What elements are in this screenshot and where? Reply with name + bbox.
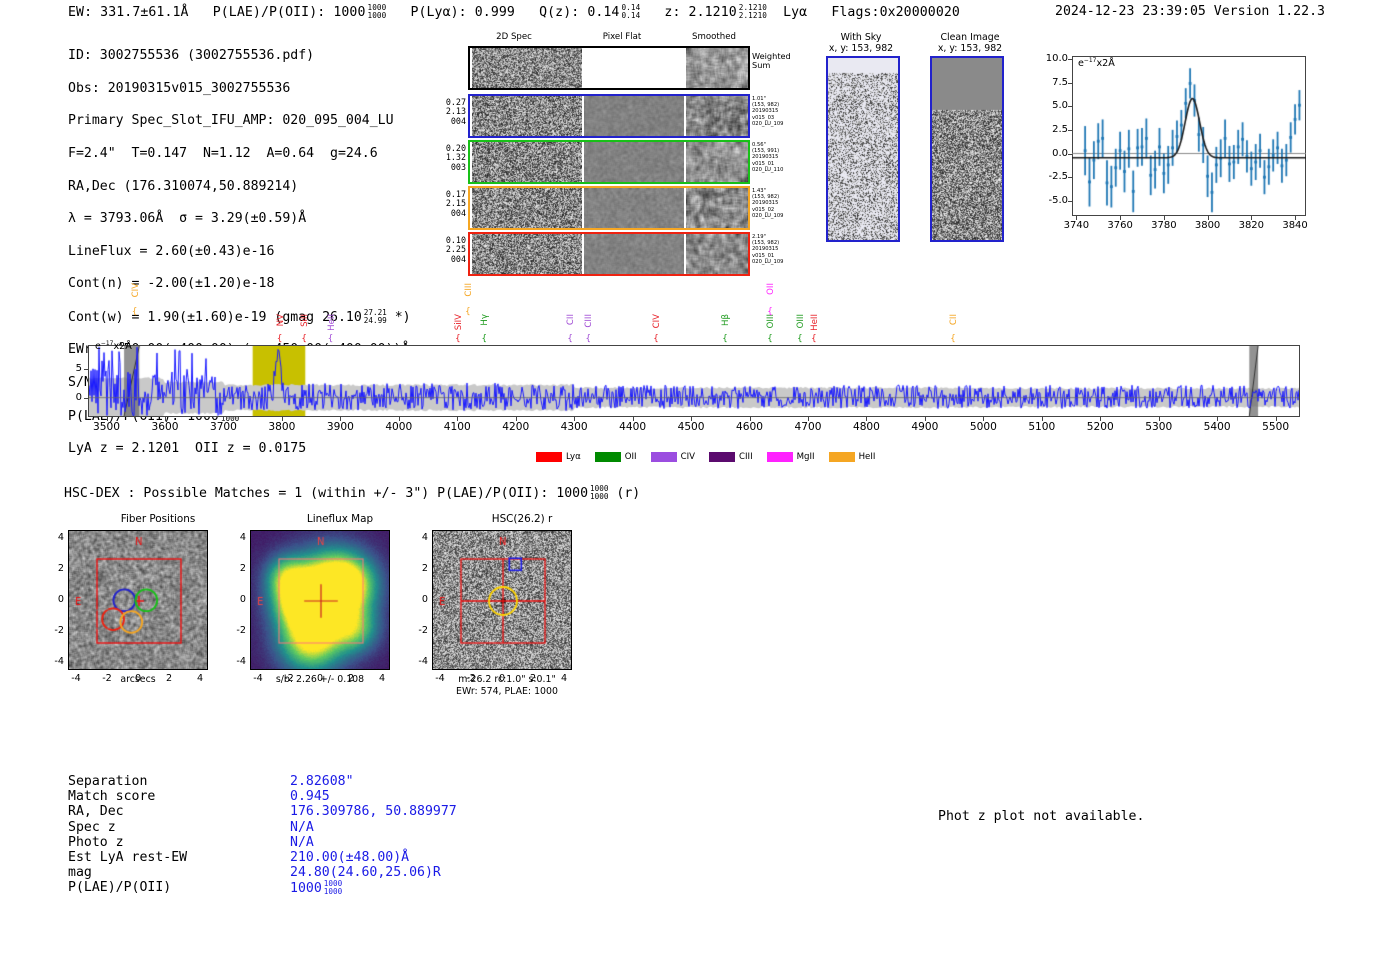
fiber-strip-smoothed	[686, 96, 748, 136]
zoom-y-tick: 0.0	[1024, 148, 1068, 159]
spectrum-x-tick: 4700	[784, 421, 832, 433]
header-z: z: 2.1210	[664, 5, 736, 20]
spectrum-x-tickmark	[1100, 417, 1101, 421]
cont-w-suffix: *)	[395, 310, 411, 325]
match-table-key: Est LyA rest-EW	[68, 850, 187, 865]
emission-line-bracket: {	[328, 334, 334, 344]
fiber-strip-pixel-flat	[584, 234, 684, 274]
fiber-metric-2: 003	[432, 163, 466, 172]
legend-label: HeII	[859, 452, 876, 462]
info-line-id: ID: 3002755536 (3002755536.pdf)	[68, 48, 411, 64]
zoom-y-tickmark	[1068, 59, 1072, 60]
clean-image-coords: x, y: 153, 982	[912, 43, 1028, 54]
fiber-strip-pixel-flat	[584, 142, 684, 182]
fiber-y-tick: -4	[46, 656, 64, 667]
spectrum-x-tick: 3800	[258, 421, 306, 433]
spectrum-x-tick: 4200	[492, 421, 540, 433]
emission-line-bracket: {	[585, 334, 591, 344]
emission-line-label: SiIV	[454, 314, 464, 330]
spectrum-x-tickmark	[1159, 417, 1160, 421]
header-plae-lo: 1000	[368, 12, 387, 20]
emission-line-label: NV	[276, 314, 286, 326]
fiber-strip-2d-spec	[472, 142, 582, 182]
legend-swatch	[651, 452, 677, 462]
zoom-y-tick: 10.0	[1024, 53, 1068, 64]
match-table-key: mag	[68, 865, 92, 880]
hscdex-title-suffix: (r)	[616, 486, 640, 501]
spectrum-x-tick: 5100	[1018, 421, 1066, 433]
emission-line-label: CII	[566, 314, 576, 325]
spectrum-x-tickmark	[107, 417, 108, 421]
hsc-y-tick: 4	[410, 532, 428, 543]
cont-w-lo: 24.99	[364, 317, 387, 325]
spectrum-x-tick: 4100	[433, 421, 481, 433]
spectrum-y-tickmark	[84, 369, 88, 370]
legend-swatch	[709, 452, 735, 462]
emission-line-label: CIII	[584, 314, 594, 328]
spectrum-x-tick: 5200	[1076, 421, 1124, 433]
info-line-cont-w: Cont(w) = 1.90(±1.60)e-19 (gmag 26.1027.…	[68, 309, 411, 326]
spectrum-x-tickmark	[165, 417, 166, 421]
emission-line-bracket: {	[797, 334, 803, 344]
fiber-meta-4: 020_LU_109	[752, 213, 822, 219]
info-line-lambda: λ = 3793.06Å σ = 3.29(±0.59)Å	[68, 211, 411, 227]
spectrum-x-tick: 4900	[901, 421, 949, 433]
fiber-strip-2d-spec	[472, 96, 582, 136]
info-line-params: F=2.4" T=0.147 N=1.12 A=0.64 g=24.6	[68, 146, 411, 162]
match-table-value: 100010001000	[290, 880, 342, 896]
fiber-strip-meta: 1.01"(153, 982)20190315v015_03020_LU_109	[752, 96, 822, 127]
emission-line-bracket: {	[455, 334, 461, 344]
emission-line-bracket: {	[567, 334, 573, 344]
clean-image-image	[930, 56, 1004, 242]
spectrum-x-tickmark	[1042, 417, 1043, 421]
spectrum-x-tick: 4800	[842, 421, 890, 433]
spectrum-x-tickmark	[340, 417, 341, 421]
match-table-value: N/A	[290, 820, 314, 835]
fiber-meta-4: 020_LU_109	[752, 121, 822, 127]
weighted-sum-strip	[468, 46, 750, 90]
lineflux-y-tick: 2	[228, 563, 246, 574]
fiber-strip-metrics: 0.272.13004	[432, 98, 466, 126]
emission-line-bracket: {	[811, 334, 817, 344]
emission-line-bracket: {	[767, 334, 773, 344]
spectrum-x-tickmark	[457, 417, 458, 421]
match-table-value: 176.309786, 50.889977	[290, 804, 457, 819]
fiber-strip-smoothed	[686, 234, 748, 274]
match-table-value: 24.80(24.60,25.06)R	[290, 865, 441, 880]
fiber-metric-2: 004	[432, 209, 466, 218]
spectrum-x-tick: 4600	[726, 421, 774, 433]
match-table-value: 2.82608"	[290, 774, 354, 789]
fiber-strip-smoothed	[686, 142, 748, 182]
with-sky-title: With Sky x, y: 153, 982	[806, 32, 916, 54]
emission-line-bracket: {	[132, 307, 138, 317]
spectrum-y-tickmark	[84, 398, 88, 399]
zoom-plot-flux-unit: e−17x2Å	[1078, 58, 1115, 69]
panel-title-lineflux-map: Lineflux Map	[240, 513, 440, 525]
match-table-value: N/A	[290, 835, 314, 850]
spectrum-x-tick: 4000	[375, 421, 423, 433]
weighted-sum-label-2: Sum	[752, 61, 791, 70]
lineflux-map-cutout	[250, 530, 390, 670]
match-table-key: P(LAE)/P(OII)	[68, 880, 171, 895]
spectrum-y-tick: 5	[56, 363, 82, 374]
emission-line-bracket: {	[481, 334, 487, 344]
match-table-key: Match score	[68, 789, 155, 804]
fiber-strip-metrics: 0.102.25004	[432, 236, 466, 264]
fiber-strip	[468, 232, 750, 276]
fiber-strip	[468, 186, 750, 230]
fiber-strip-2d-spec	[472, 234, 582, 274]
zoom-y-tick: 2.5	[1024, 124, 1068, 135]
fiber-y-tick: 2	[46, 563, 64, 574]
emission-line-label: SiII	[300, 314, 310, 327]
zoom-y-tickmark	[1068, 130, 1072, 131]
match-table-key: Photo z	[68, 835, 124, 850]
clean-image-title: Clean Image x, y: 153, 982	[912, 32, 1028, 54]
spectrum-x-tick: 5500	[1252, 421, 1300, 433]
zoom-y-tickmark	[1068, 106, 1072, 107]
fiber-y-tick: 0	[46, 594, 64, 605]
spectrum-x-tickmark	[1217, 417, 1218, 421]
emission-line-bracket: {	[767, 307, 773, 317]
emission-line-bracket: {	[722, 334, 728, 344]
with-sky-image	[826, 56, 900, 242]
zoom-y-tickmark	[1068, 83, 1072, 84]
header-summary-line: EW: 331.7±61.1Å P(LAE)/P(OII): 100010001…	[68, 4, 960, 20]
emission-line-label: CIII	[464, 283, 474, 297]
zoom-x-tick: 3840	[1273, 220, 1317, 231]
fiber-strip	[468, 94, 750, 138]
fiber-strip-smoothed	[686, 188, 748, 228]
fiber-x-tick: -4	[62, 673, 90, 684]
zoom-y-tick: 7.5	[1024, 77, 1068, 88]
info-line-lineflux: LineFlux = 2.60(±0.43)e-16	[68, 244, 411, 260]
with-sky-coords: x, y: 153, 982	[806, 43, 916, 54]
line-zoom-plot: e−17x2Å -5.0-2.50.02.55.07.510.0 3740376…	[1024, 40, 1314, 255]
spectrum-x-tickmark	[925, 417, 926, 421]
zoom-x-tick: 3740	[1054, 220, 1098, 231]
header-plya: P(Lyα): 0.999	[410, 5, 515, 20]
spectrum-x-tickmark	[223, 417, 224, 421]
emission-line-bracket: {	[277, 334, 283, 344]
spectrum-x-tick: 5300	[1135, 421, 1183, 433]
fiber-meta-4: 020_LU_110	[752, 167, 822, 173]
fiber-x-tick: 4	[186, 673, 214, 684]
emission-line-label: CIV	[131, 283, 141, 297]
zoom-y-tickmark	[1068, 201, 1072, 202]
emission-line-bracket: {	[301, 334, 307, 344]
zoom-x-tickmark	[1076, 216, 1077, 220]
spectrum-x-tick: 3600	[141, 421, 189, 433]
match-table-value: 210.00(±48.00)Å	[290, 850, 409, 865]
fiber-positions-cutout	[68, 530, 208, 670]
hsc-y-tick: -4	[410, 656, 428, 667]
header-line-id: Lyα	[783, 5, 807, 20]
zoom-y-tick: 5.0	[1024, 100, 1068, 111]
spectrum-y-tick: 0	[56, 392, 82, 403]
emission-line-bracket: {	[465, 307, 471, 317]
fiber-strip	[468, 140, 750, 184]
emission-line-label: Hγ	[480, 314, 490, 326]
with-sky-title-text: With Sky	[806, 32, 916, 43]
emission-line-label: OIII	[796, 314, 806, 328]
spectrum-x-tickmark	[691, 417, 692, 421]
info-line-cont-n: Cont(n) = -2.00(±1.20)e-18	[68, 276, 411, 292]
panel-title-hsc-r: HSC(26.2) r	[422, 513, 622, 525]
match-plae-lo: 1000	[324, 888, 342, 896]
header-flags: Flags:0x20000020	[831, 5, 960, 20]
header-z-lo: 2.1210	[739, 12, 767, 20]
fiber-y-tick: 4	[46, 532, 64, 543]
fiber-strip-2d-spec	[472, 188, 582, 228]
zoom-y-tickmark	[1068, 154, 1072, 155]
panel-title-fiber-positions: Fiber Positions	[58, 513, 258, 525]
header-timestamp: 2024-12-23 23:39:05 Version 1.22.3	[1055, 4, 1325, 19]
zoom-x-tickmark	[1120, 216, 1121, 220]
fiber-meta-4: 020_LU_109	[752, 259, 822, 265]
spectrum-x-tick: 4300	[550, 421, 598, 433]
cont-w-prefix: Cont(w) = 1.90(±1.60)e-19 (gmag 26.10	[68, 310, 362, 325]
fiber-strip-metrics: 0.172.15004	[432, 190, 466, 218]
spectrum-x-tickmark	[1276, 417, 1277, 421]
spectrum-x-tick: 5400	[1193, 421, 1241, 433]
zoom-x-tick: 3780	[1142, 220, 1186, 231]
info-line-obs: Obs: 20190315v015_3002755536	[68, 81, 411, 97]
emission-line-bracket: {	[653, 334, 659, 344]
match-plae-value: 1000	[290, 881, 322, 896]
emission-line-label: HeII	[810, 314, 820, 331]
spectrum-x-tickmark	[399, 417, 400, 421]
zoom-x-tickmark	[1295, 216, 1296, 220]
spectrum-x-tickmark	[808, 417, 809, 421]
legend-label: CIII	[739, 452, 753, 462]
hsc-y-tick: 2	[410, 563, 428, 574]
zoom-y-tick: -2.5	[1024, 171, 1068, 182]
col-title-2d-spec: 2D Spec	[454, 32, 574, 42]
fiber-strip-pixel-flat	[584, 188, 684, 228]
emission-line-bracket: {	[950, 334, 956, 344]
spectrum-x-tickmark	[983, 417, 984, 421]
legend-label: CIV	[681, 452, 695, 462]
emission-line-label: CIV	[652, 314, 662, 328]
hsc-r-caption: m:26.2 rc:1.0" s:0.1" EWr: 574, PLAE: 10…	[432, 674, 582, 697]
emission-line-label: HeII	[327, 314, 337, 331]
match-table-key: RA, Dec	[68, 804, 124, 819]
legend-swatch	[767, 452, 793, 462]
spectrum-x-tick: 3500	[83, 421, 131, 433]
match-table-key: Separation	[68, 774, 147, 789]
zoom-x-tick: 3820	[1229, 220, 1273, 231]
weighted-sum-label: Weighted Sum	[752, 52, 791, 71]
legend-swatch	[536, 452, 562, 462]
spectrum-x-tickmark	[574, 417, 575, 421]
info-line-redshifts: LyA z = 2.1201 OII z = 0.0175	[68, 441, 411, 457]
legend-swatch	[595, 452, 621, 462]
hscdex-title-prefix: HSC-DEX : Possible Matches = 1 (within +…	[64, 486, 548, 501]
spectrum-x-tickmark	[516, 417, 517, 421]
col-title-smoothed: Smoothed	[664, 32, 764, 42]
fiber-y-tick: -2	[46, 625, 64, 636]
header-plae-label: P(LAE)/P(OII):	[213, 5, 326, 20]
spectrum-x-tick: 4500	[667, 421, 715, 433]
zoom-y-tick: -5.0	[1024, 195, 1068, 206]
spectrum-x-tickmark	[866, 417, 867, 421]
fiber-strip-pixel-flat	[584, 96, 684, 136]
fiber-positions-caption: arcsecs	[88, 674, 188, 686]
zoom-x-tick: 3800	[1186, 220, 1230, 231]
legend-label: Lyα	[566, 452, 581, 462]
full-spectrum-flux-unit: e−17x2Å	[95, 341, 132, 352]
emission-line-label: CII	[949, 314, 959, 325]
legend-swatch	[829, 452, 855, 462]
hscdex-plae-value: 1000	[556, 486, 588, 501]
hsc-y-tick: 0	[410, 594, 428, 605]
header-qz: Q(z): 0.14	[539, 5, 619, 20]
info-line-ifu: Primary Spec_Slot_IFU_AMP: 020_095_004_L…	[68, 113, 411, 129]
spectrum-x-tick: 5000	[959, 421, 1007, 433]
zoom-x-tickmark	[1208, 216, 1209, 220]
spectrum-x-tickmark	[282, 417, 283, 421]
hscdex-plae-lo: 1000	[590, 493, 608, 501]
lineflux-y-tick: 0	[228, 594, 246, 605]
fiber-strip-metrics: 0.201.32003	[432, 144, 466, 172]
fiber-metric-2: 004	[432, 255, 466, 264]
lineflux-y-tick: -4	[228, 656, 246, 667]
fiber-metric-2: 004	[432, 117, 466, 126]
zoom-x-tickmark	[1164, 216, 1165, 220]
info-line-radec: RA,Dec (176.310074,50.889214)	[68, 179, 411, 195]
fiber-strip-meta: 0.56"(153, 991)20190315v015_01020_LU_110	[752, 142, 822, 173]
legend-label: OII	[625, 452, 637, 462]
hsc-r-caption-2: EWr: 574, PLAE: 1000	[432, 686, 582, 698]
fiber-strip-meta: 2.19"(153, 982)20190315v015_01020_LU_109	[752, 234, 822, 265]
header-plae-value: 1000	[333, 5, 365, 20]
match-table-key: Spec z	[68, 820, 116, 835]
lineflux-y-tick: 4	[228, 532, 246, 543]
header-qz-lo: 0.14	[621, 12, 640, 20]
hsc-r-cutout	[432, 530, 572, 670]
photoz-message: Phot z plot not available.	[938, 809, 1144, 824]
emission-line-label: Hβ	[721, 314, 731, 326]
lineflux-map-caption: s/b: 2.26 +/- 0.108	[250, 674, 390, 686]
hscdex-header: HSC-DEX : Possible Matches = 1 (within +…	[64, 485, 640, 501]
spectrum-x-tick: 4400	[609, 421, 657, 433]
emission-line-label: OII	[766, 283, 776, 295]
header-ew: EW: 331.7±61.1Å	[68, 5, 189, 20]
lineflux-y-tick: -2	[228, 625, 246, 636]
hsc-y-tick: -2	[410, 625, 428, 636]
match-table-value: 0.945	[290, 789, 330, 804]
emission-line-legend: LyαOIICIVCIIIMgIIHeII	[536, 452, 889, 463]
spectrum-x-tick: 3900	[316, 421, 364, 433]
hsc-r-caption-1: m:26.2 rc:1.0" s:0.1"	[432, 674, 582, 686]
col-title-pixel-flat: Pixel Flat	[572, 32, 672, 42]
zoom-x-tickmark	[1251, 216, 1252, 220]
zoom-y-tickmark	[1068, 177, 1072, 178]
fiber-strip-meta: 1.43"(153, 982)20190315v015_02020_LU_109	[752, 188, 822, 219]
spectrum-x-tick: 3700	[199, 421, 247, 433]
zoom-x-tick: 3760	[1098, 220, 1142, 231]
spectrum-x-tickmark	[750, 417, 751, 421]
clean-image-title-text: Clean Image	[912, 32, 1028, 43]
legend-label: MgII	[797, 452, 815, 462]
spectrum-x-tickmark	[633, 417, 634, 421]
